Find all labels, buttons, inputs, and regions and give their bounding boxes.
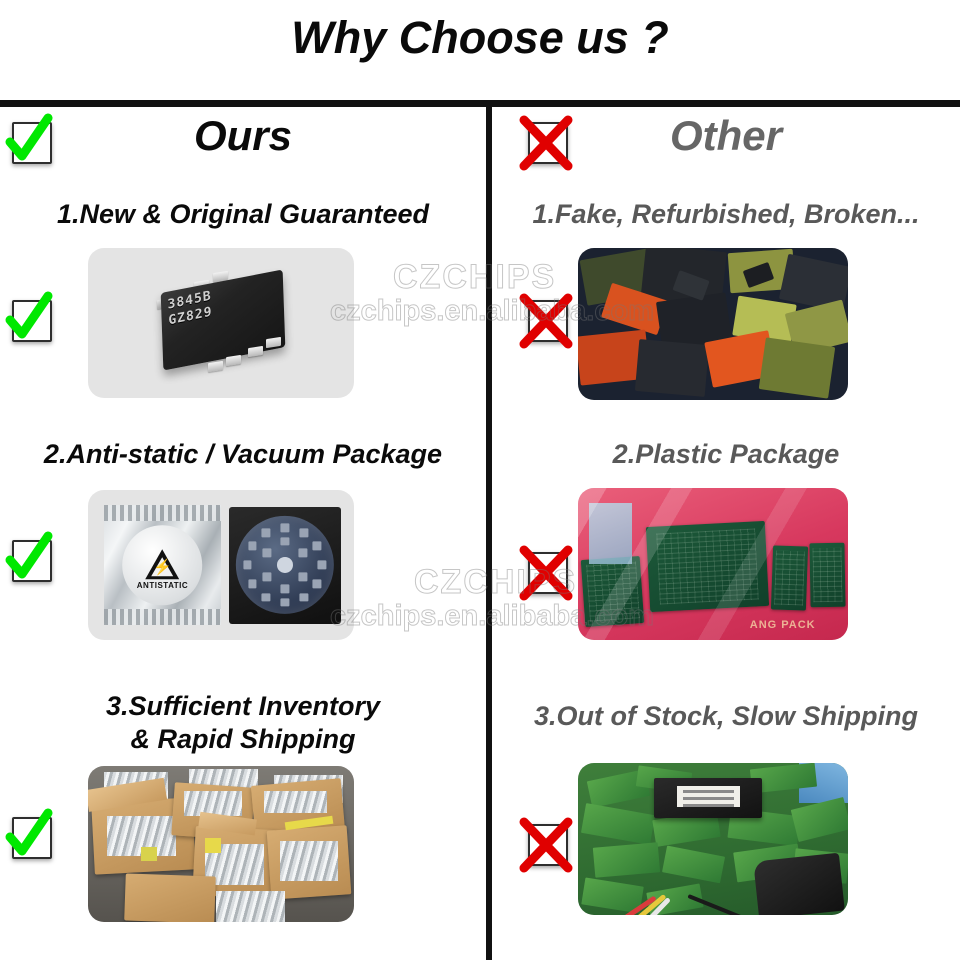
antistatic-bag: ⚡ ANTISTATIC — [104, 505, 221, 625]
why-choose-us-infographic: Why Choose us ? Ours Other 1.New & Origi… — [0, 0, 960, 960]
lightning-bolt-icon: ⚡ — [153, 560, 172, 575]
cross-icon-row-1 — [514, 288, 576, 350]
tape-reel — [236, 516, 334, 614]
cross-glyph — [514, 288, 576, 350]
column-header-other: Other — [492, 112, 960, 160]
row-1-title-ours: 1.New & Original Guaranteed — [8, 198, 478, 231]
cross-icon-row-3 — [514, 812, 576, 874]
check-glyph — [0, 805, 60, 867]
row-3-title-other: 3.Out of Stock, Slow Shipping — [496, 700, 956, 733]
green-scrap-pile-photo — [578, 763, 848, 915]
black-module — [654, 778, 762, 818]
tape-reel-case — [229, 507, 341, 624]
row-3-title-ours: 3.Sufficient Inventory & Rapid Shipping — [8, 690, 478, 756]
header-divider — [0, 100, 960, 107]
cross-icon-row-2 — [514, 540, 576, 602]
check-icon-row-3 — [0, 805, 60, 867]
antistatic-label-disc: ⚡ ANTISTATIC — [123, 525, 203, 605]
pink-bag-caption: ANG PACK — [750, 619, 816, 631]
column-divider — [486, 107, 492, 960]
cross-glyph — [514, 812, 576, 874]
row-2-title-ours: 2.Anti-static / Vacuum Package — [8, 438, 478, 471]
antistatic-bag-and-reel-photo: ⚡ ANTISTATIC — [88, 490, 354, 640]
stock-boxes-photo — [88, 766, 354, 922]
check-glyph — [0, 288, 60, 350]
check-icon-row-1 — [0, 288, 60, 350]
row-1-title-other: 1.Fake, Refurbished, Broken... — [496, 198, 956, 231]
check-icon-row-2 — [0, 528, 60, 590]
reel-hub — [277, 557, 293, 573]
column-header-ours: Ours — [0, 112, 486, 160]
scrap-chips-photo — [578, 248, 848, 400]
check-glyph — [0, 528, 60, 590]
antistatic-label-text: ANTISTATIC — [123, 581, 203, 590]
soic-chip-photo: 3845B GZ829 — [88, 248, 354, 398]
module-label — [677, 786, 740, 807]
cross-glyph — [514, 540, 576, 602]
pink-plastic-bag-photo: ANG PACK — [578, 488, 848, 640]
page-title: Why Choose us ? — [0, 12, 960, 64]
row-2-title-other: 2.Plastic Package — [496, 438, 956, 471]
